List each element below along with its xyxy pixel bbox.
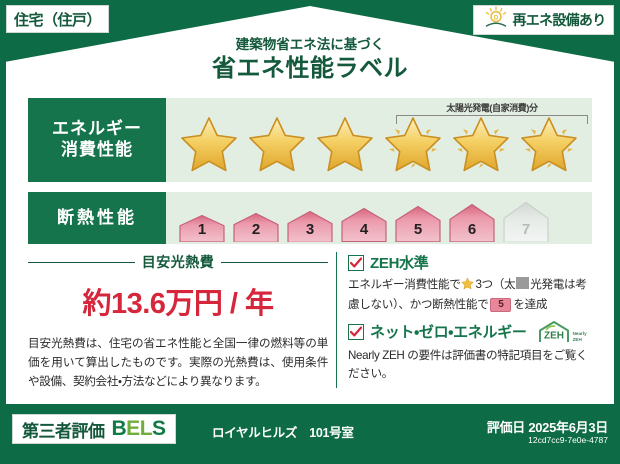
net-zero-energy-header: ネット・ゼロ・エネルギー ZEH Nearly ZEH: [348, 320, 594, 344]
insulation-grade-badge: 5: [490, 298, 511, 312]
utility-cost-block: 目安光熱費 約13.6万円 / 年 目安光熱費は、住宅の省エネ性能と全国一律の燃…: [28, 252, 328, 391]
zeh-desc-part2: 3つ（太: [475, 278, 515, 291]
section-divider: [336, 252, 337, 388]
zeh-claims-block: ZEH水準 エネルギー消費性能で3つ（太光発電は考慮しない）、かつ断熱性能で5を…: [348, 252, 594, 389]
zeh-house-icon: ZEH: [537, 320, 571, 344]
insulation-performance-label: 断熱性能: [28, 192, 166, 244]
heading-subtitle: 建築物省エネ法に基づく: [0, 38, 620, 53]
dwelling-type-tag: 住宅（住戸）: [6, 5, 109, 33]
label-heading: 建築物省エネ法に基づく 省エネ性能ラベル: [0, 38, 620, 82]
insulation-level-6: 6: [446, 203, 498, 242]
zeh-logo-sub1: Nearly: [573, 331, 587, 336]
energy-performance-row: エネルギー 消費性能 太陽光発電(自家消費)分: [28, 98, 592, 182]
renewable-equipment-label: 再エネ設備あり: [512, 10, 605, 30]
energy-star-3: [312, 110, 378, 176]
insulation-level-3: 3: [284, 210, 336, 242]
zeh-logo-sub2: ZEH: [573, 337, 582, 342]
renewable-equipment-tag: D 再エネ設備あり: [473, 5, 614, 35]
energy-star-4: [380, 110, 446, 176]
net-zero-energy-checkbox[interactable]: [348, 324, 364, 340]
insulation-level-4: 4: [338, 207, 390, 242]
dwelling-type-label: 住宅（住戸）: [14, 9, 101, 30]
energy-performance-label: エネルギー 消費性能: [28, 98, 166, 182]
zeh-standard-description: エネルギー消費性能で3つ（太光発電は考慮しない）、かつ断熱性能で5を達成: [348, 276, 594, 314]
net-zero-energy-title: ネット・ゼロ・エネルギー: [370, 321, 527, 342]
heading-title: 省エネ性能ラベル: [0, 55, 620, 83]
solar-sun-icon: D: [483, 6, 509, 35]
net-zero-energy-item: ネット・ゼロ・エネルギー ZEH Nearly ZEH Nearly ZEH の…: [348, 320, 594, 383]
evaluation-date: 評価日 2025年6月3日: [487, 417, 608, 436]
check-icon: [350, 326, 362, 338]
zeh-standard-title: ZEH水準: [370, 252, 429, 273]
zeh-standard-checkbox[interactable]: [348, 255, 364, 271]
inline-star-icon: [461, 280, 474, 293]
label-footer: 第三者評価 BELS ロイヤルヒルズ 101号室 評価日 2025年6月3日 1…: [0, 406, 620, 464]
zeh-standard-item: ZEH水準 エネルギー消費性能で3つ（太光発電は考慮しない）、かつ断熱性能で5を…: [348, 252, 594, 314]
energy-star-6: [516, 110, 582, 176]
utility-cost-title-row: 目安光熱費: [28, 252, 328, 272]
utility-cost-note: 目安光熱費は、住宅の省エネ性能と全国一律の燃料等の単価を用いて算出したものです。…: [28, 335, 328, 391]
zeh-logo-subtext: Nearly ZEH: [573, 331, 587, 344]
evaluation-id: 12cd7cc9-7e0e-4787: [528, 435, 608, 445]
zeh-house-logo: ZEH Nearly ZEH: [537, 320, 587, 344]
redacted-text-block: [516, 277, 529, 289]
net-zero-energy-description: Nearly ZEH の要件は評価書の特記項目をご覧ください。: [348, 347, 594, 383]
title-rule-right: [221, 262, 328, 263]
insulation-level-scale: 1234567: [176, 201, 552, 242]
energy-star-2: [244, 110, 310, 176]
insulation-performance-value: 1234567: [166, 192, 592, 244]
utility-cost-title: 目安光熱費: [142, 252, 215, 272]
svg-text:D: D: [494, 14, 499, 21]
bels-letter: E: [126, 417, 140, 440]
energy-star-5: [448, 110, 514, 176]
insulation-level-2: 2: [230, 212, 282, 242]
insulation-level-1: 1: [176, 214, 228, 242]
energy-star-rating: [176, 110, 582, 176]
energy-star-1: [176, 110, 242, 176]
energy-label-line1: エネルギー: [52, 119, 142, 140]
bels-logo: BELS: [112, 417, 166, 441]
energy-performance-value: 太陽光発電(自家消費)分: [166, 98, 592, 182]
title-rule-left: [28, 262, 135, 263]
third-party-eval-label: 第三者評価: [22, 417, 105, 442]
insulation-level-5: 5: [392, 205, 444, 242]
bels-letter: L: [140, 417, 152, 440]
bels-letter: S: [152, 417, 166, 440]
bels-letter: B: [112, 417, 127, 440]
bels-certification-box: 第三者評価 BELS: [12, 414, 176, 444]
insulation-level-7: 7: [500, 201, 552, 242]
utility-cost-amount: 約13.6万円 / 年: [28, 280, 328, 322]
zeh-standard-header: ZEH水準: [348, 252, 594, 273]
insulation-label-text: 断熱性能: [57, 208, 137, 229]
energy-label-line2: 消費性能: [61, 140, 133, 161]
insulation-performance-row: 断熱性能 1234567: [28, 192, 592, 244]
property-name: ロイヤルヒルズ 101号室: [212, 422, 354, 441]
zeh-desc-part1: エネルギー消費性能で: [348, 278, 460, 291]
check-icon: [350, 257, 362, 269]
energy-performance-label: 住宅（住戸） D 再エネ設備あり 建築物省エネ法に基づく 省エネ性能ラベル: [0, 0, 620, 464]
svg-text:ZEH: ZEH: [544, 331, 564, 342]
zeh-desc-part4: を達成: [513, 298, 547, 311]
